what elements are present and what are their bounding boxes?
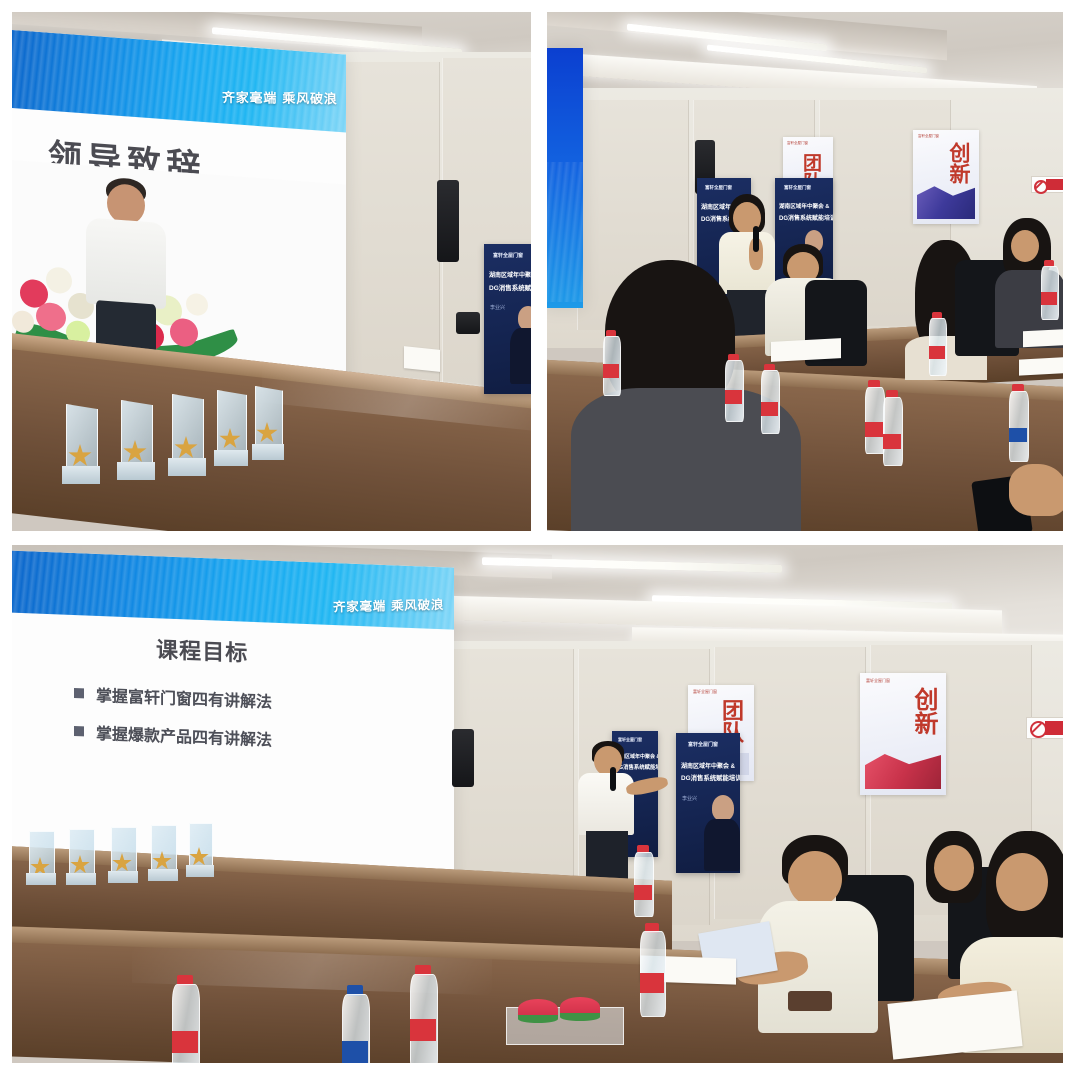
attendee-head — [996, 853, 1048, 911]
water-bottle — [929, 312, 945, 374]
screen-slogan: 齐家毫端 乘风破浪 — [333, 594, 444, 616]
trophy — [62, 404, 100, 486]
hand — [1009, 464, 1063, 516]
speaker-shirt — [86, 217, 166, 309]
bottle-body — [865, 387, 885, 454]
banner-portrait-suit — [704, 819, 740, 871]
watermelon-rind — [560, 1013, 600, 1021]
wall-speaker — [437, 180, 459, 262]
trophy — [252, 386, 284, 464]
notebook — [1019, 356, 1063, 375]
screen-slogan: 齐家毫端 乘风破浪 — [222, 87, 338, 107]
bottle-label — [634, 885, 652, 900]
watermelon-rind — [518, 1015, 558, 1023]
trophy — [214, 390, 248, 472]
trophy — [108, 827, 138, 885]
microphone — [753, 226, 759, 252]
flower — [170, 318, 198, 348]
watermelon-slice — [560, 997, 600, 1023]
sign-text-block — [1045, 721, 1063, 735]
poster-title: 创新 — [949, 142, 970, 184]
photo-top-right: 富轩全屋门窗 团队 富轩全屋门窗 创新 富轩全屋门窗 湖南区域年中 DG消售系统… — [547, 12, 1063, 531]
trophy — [148, 825, 178, 883]
camera-tripod-head — [456, 312, 480, 334]
attendee-with-glasses — [912, 831, 992, 941]
trainer-trousers — [586, 831, 628, 881]
poster-artwork — [865, 743, 941, 789]
bullet-square — [74, 726, 84, 736]
water-bottle — [865, 380, 883, 452]
trophy-base — [117, 462, 155, 480]
bottle-label — [172, 1031, 198, 1053]
trophy — [66, 829, 96, 887]
poster-brand-mark: 富轩全屋门窗 — [693, 689, 717, 695]
bottle-label — [725, 390, 742, 404]
wall-panel — [342, 62, 440, 392]
poster-innovation: 富轩全屋门窗 创新 — [913, 130, 979, 224]
banner-brand-logo: 富轩全屋门窗 — [493, 252, 523, 259]
bottle-label — [929, 346, 945, 359]
no-smoking-sign — [1031, 176, 1063, 193]
trophy-base — [252, 444, 284, 460]
bullet-text: 掌握爆款产品四有讲解法 — [96, 720, 272, 751]
banner-portrait-suit — [510, 328, 531, 384]
water-bottle — [640, 923, 664, 1015]
roll-up-banner: 富轩全屋门窗 湖南区域年中聚会 & DG消售系统赋能培训 李业兴 — [676, 733, 740, 873]
banner-brand-logo: 富轩全屋门窗 — [688, 741, 718, 748]
trophy-base — [26, 873, 56, 885]
bottle-label — [342, 1041, 368, 1063]
meeting-room-scene: 富轩全屋门窗 团队 富轩全屋门窗 创新 富轩全屋门窗 湖南区域年中 DG消售系统… — [547, 12, 1063, 531]
banner-line-2: DG消售系统赋能培训 — [779, 213, 833, 222]
water-bottle — [342, 985, 368, 1063]
watermelon-slice — [518, 999, 558, 1025]
smartphone[interactable] — [788, 991, 832, 1011]
bottle-label — [410, 1019, 436, 1041]
banner-line-1: 湖南区域年中聚会 & — [681, 761, 735, 770]
bottle-label — [1009, 428, 1027, 442]
water-bottle — [410, 965, 436, 1063]
bullet-square — [74, 688, 84, 698]
meeting-room-scene: 齐家毫端 乘风破浪 领导致辞 — [12, 12, 531, 531]
trophy-base — [66, 873, 96, 885]
banner-portrait-face — [712, 795, 734, 821]
attendee-head — [788, 851, 842, 907]
slide-bullet: 掌握富轩门窗四有讲解法 — [74, 681, 272, 713]
flower — [46, 266, 72, 294]
bottle-body — [883, 397, 903, 466]
poster-title: 创新 — [912, 687, 936, 735]
banner-line-1: 湖南区域年中聚会 & — [489, 270, 531, 279]
banner-brand-logo: 富轩全屋门窗 — [784, 185, 811, 191]
poster-innovation: 富轩全屋门窗 创新 — [860, 673, 946, 795]
trophy-base — [108, 871, 138, 883]
water-bottle — [172, 975, 198, 1063]
banner-speaker-label: 李业兴 — [682, 795, 697, 802]
meeting-room-scene: 齐家毫端 乘风破浪 课程目标 掌握富轩门窗四有讲解法 掌握爆款产品四有讲解法 富… — [12, 545, 1063, 1063]
water-bottle — [761, 364, 778, 432]
flower — [12, 310, 34, 334]
trophy-base — [168, 458, 206, 476]
notebook — [771, 338, 841, 362]
sign-text-block — [1046, 179, 1063, 190]
trophy — [26, 831, 56, 887]
trophy — [117, 400, 155, 484]
trainer-head — [594, 746, 622, 776]
trophy — [168, 394, 206, 480]
poster-brand-mark: 富轩全屋门窗 — [866, 678, 890, 684]
notebook — [1023, 329, 1063, 348]
bottle-label — [640, 973, 664, 993]
water-bottle — [634, 845, 652, 915]
bottle-label — [761, 402, 778, 416]
water-bottle — [883, 390, 901, 464]
attendee-head — [1011, 230, 1039, 262]
water-bottle — [725, 354, 742, 420]
bottle-body — [1009, 391, 1029, 462]
trophy-base — [62, 466, 100, 484]
flower — [186, 293, 208, 317]
banner-brand-logo: 富轩全屋门窗 — [705, 185, 732, 191]
bottle-label — [865, 422, 883, 437]
water-bottle — [1041, 260, 1057, 318]
trophy-base — [148, 869, 178, 881]
trophy-base — [186, 865, 214, 877]
wall-speaker — [452, 729, 474, 787]
roll-up-banner: 富轩全屋门窗 湖南区域年中聚会 & DG消售系统赋能培训 李业兴 — [484, 244, 531, 394]
attendee-head — [934, 845, 974, 891]
photo-top-left: 齐家毫端 乘风破浪 领导致辞 — [12, 12, 531, 531]
water-bottle — [1009, 384, 1027, 460]
banner-line-2: DG消售系统赋能培训 — [681, 773, 740, 782]
banner-line-1: 湖南区域年中聚会 & — [779, 202, 829, 210]
bottle-label — [603, 364, 619, 378]
table-item-box — [404, 346, 440, 372]
slide-bullet: 掌握爆款产品四有讲解法 — [74, 719, 272, 751]
poster-artwork — [917, 179, 975, 219]
trainer-shirt — [578, 773, 634, 835]
poster-brand-mark: 富轩全屋门窗 — [787, 141, 808, 146]
trophy-base — [214, 450, 248, 466]
poster-brand-mark: 富轩全屋门窗 — [918, 134, 939, 139]
banner-portrait-face — [518, 306, 531, 330]
photo-collage: 齐家毫端 乘风破浪 领导致辞 — [0, 0, 1080, 1080]
banner-line-2: DG消售系统赋能培训 — [489, 282, 531, 292]
no-smoking-sign — [1026, 717, 1063, 739]
screen-wave-texture — [547, 162, 583, 302]
trophy — [186, 823, 214, 879]
photo-bottom: 齐家毫端 乘风破浪 课程目标 掌握富轩门窗四有讲解法 掌握爆款产品四有讲解法 富… — [12, 545, 1063, 1063]
microphone — [610, 767, 616, 791]
water-bottle — [603, 330, 619, 394]
bottle-label — [883, 434, 901, 449]
slide-title-course-objectives: 课程目标 — [156, 632, 248, 668]
bullet-text: 掌握富轩门窗四有讲解法 — [96, 682, 272, 713]
bottle-label — [1041, 292, 1057, 305]
banner-speaker-label: 李业兴 — [490, 304, 505, 311]
